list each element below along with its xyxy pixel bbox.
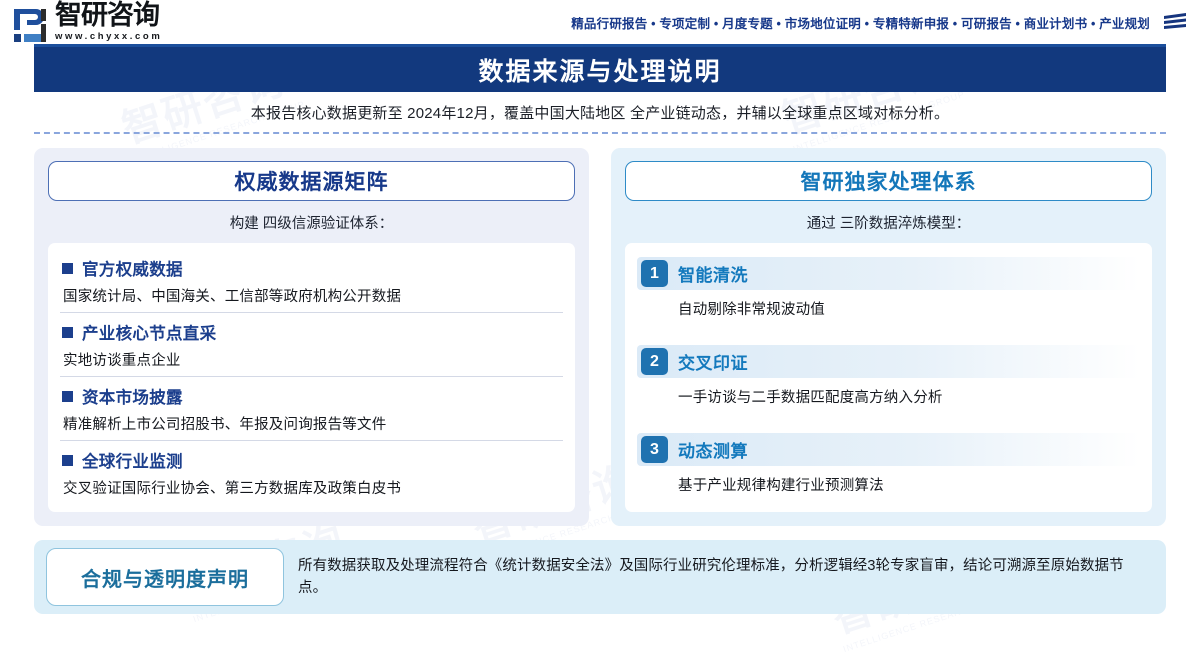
source-title: 全球行业监测	[82, 448, 183, 472]
step-number-badge: 2	[641, 348, 668, 375]
panel-data-sources: 权威数据源矩阵 构建 四级信源验证体系： 官方权威数据 国家统计局、中国海关、工…	[34, 148, 589, 526]
step-number-badge: 1	[641, 260, 668, 287]
panel-title-right: 智研独家处理体系	[801, 166, 977, 196]
square-bullet-icon	[62, 263, 73, 274]
source-head: 全球行业监测	[60, 448, 563, 472]
brand-bar: 智研咨询 www.chyxx.com 精品行研报告 • 专项定制 • 月度专题 …	[0, 0, 1200, 44]
list-item[interactable]: 资本市场披露 精准解析上市公司招股书、年报及问询报告等文件	[60, 376, 563, 440]
list-item[interactable]: 产业核心节点直采 实地访谈重点企业	[60, 312, 563, 376]
step-desc: 一手访谈与二手数据匹配度高方纳入分析	[678, 386, 1140, 407]
source-head: 官方权威数据	[60, 256, 563, 280]
step-head: 2 交叉印证	[637, 345, 1140, 378]
list-item[interactable]: 官方权威数据 国家统计局、中国海关、工信部等政府机构公开数据	[60, 249, 563, 312]
source-list: 官方权威数据 国家统计局、中国海关、工信部等政府机构公开数据 产业核心节点直采 …	[48, 243, 575, 512]
list-item[interactable]: 全球行业监测 交叉验证国际行业协会、第三方数据库及政策白皮书	[60, 440, 563, 504]
panel-subtitle-left: 构建 四级信源验证体系：	[48, 212, 575, 233]
step-number-badge: 3	[641, 436, 668, 463]
step-desc: 自动剔除非常规波动值	[678, 298, 1140, 319]
step-head: 1 智能清洗	[637, 257, 1140, 290]
brand-tagline: 精品行研报告 • 专项定制 • 月度专题 • 市场地位证明 • 专精特新申报 •…	[571, 13, 1150, 32]
page-title-band: 数据来源与处理说明	[34, 47, 1166, 92]
panel-processing-system: 智研独家处理体系 通过 三阶数据淬炼模型： 1 智能清洗 自动剔除非常规波动值 …	[611, 148, 1166, 526]
chyxx-logo-icon	[14, 9, 48, 42]
page-title: 数据来源与处理说明	[478, 52, 721, 88]
list-item[interactable]: 1 智能清洗 自动剔除非常规波动值	[637, 249, 1140, 337]
list-item[interactable]: 3 动态测算 基于产业规律构建行业预测算法	[637, 425, 1140, 512]
page-subtitle: 本报告核心数据更新至 2024年12月，覆盖中国大陆地区 全产业链动态，并辅以全…	[251, 102, 949, 123]
step-head: 3 动态测算	[637, 433, 1140, 466]
stack-lines-icon[interactable]	[1162, 12, 1188, 32]
panel-title-box-right: 智研独家处理体系	[625, 161, 1152, 201]
square-bullet-icon	[62, 455, 73, 466]
step-desc: 基于产业规律构建行业预测算法	[678, 474, 1140, 495]
compliance-statement: 所有数据获取及处理流程符合《统计数据安全法》及国际行业研究伦理标准，分析逻辑经3…	[298, 555, 1152, 600]
source-title: 资本市场披露	[82, 384, 183, 408]
subtitle-row: 本报告核心数据更新至 2024年12月，覆盖中国大陆地区 全产业链动态，并辅以全…	[34, 92, 1166, 132]
source-title: 产业核心节点直采	[82, 320, 216, 344]
step-list: 1 智能清洗 自动剔除非常规波动值 2 交叉印证 一手访谈与二手数据匹配度高方纳…	[625, 243, 1152, 512]
step-title: 动态测算	[678, 437, 748, 462]
step-title: 智能清洗	[678, 261, 748, 286]
square-bullet-icon	[62, 327, 73, 338]
source-head: 资本市场披露	[60, 384, 563, 408]
logo-text-cn: 智研咨询	[55, 2, 162, 29]
source-desc: 交叉验证国际行业协会、第三方数据库及政策白皮书	[63, 477, 563, 498]
source-desc: 精准解析上市公司招股书、年报及问询报告等文件	[63, 413, 563, 434]
source-title: 官方权威数据	[82, 256, 183, 280]
panel-title-left: 权威数据源矩阵	[235, 166, 389, 196]
source-desc: 实地访谈重点企业	[63, 349, 563, 370]
step-title: 交叉印证	[678, 349, 748, 374]
compliance-tag-label: 合规与透明度声明	[81, 563, 249, 592]
list-item[interactable]: 2 交叉印证 一手访谈与二手数据匹配度高方纳入分析	[637, 337, 1140, 425]
source-head: 产业核心节点直采	[60, 320, 563, 344]
dashed-divider	[34, 132, 1166, 134]
site-logo[interactable]: 智研咨询 www.chyxx.com	[14, 2, 162, 42]
panel-title-box-left: 权威数据源矩阵	[48, 161, 575, 201]
panel-subtitle-right: 通过 三阶数据淬炼模型：	[625, 212, 1152, 233]
square-bullet-icon	[62, 391, 73, 402]
source-desc: 国家统计局、中国海关、工信部等政府机构公开数据	[63, 285, 563, 306]
compliance-tag-box: 合规与透明度声明	[46, 548, 284, 606]
logo-url: www.chyxx.com	[55, 32, 162, 42]
panels-container: 权威数据源矩阵 构建 四级信源验证体系： 官方权威数据 国家统计局、中国海关、工…	[34, 148, 1166, 526]
compliance-banner: 合规与透明度声明 所有数据获取及处理流程符合《统计数据安全法》及国际行业研究伦理…	[34, 540, 1166, 614]
